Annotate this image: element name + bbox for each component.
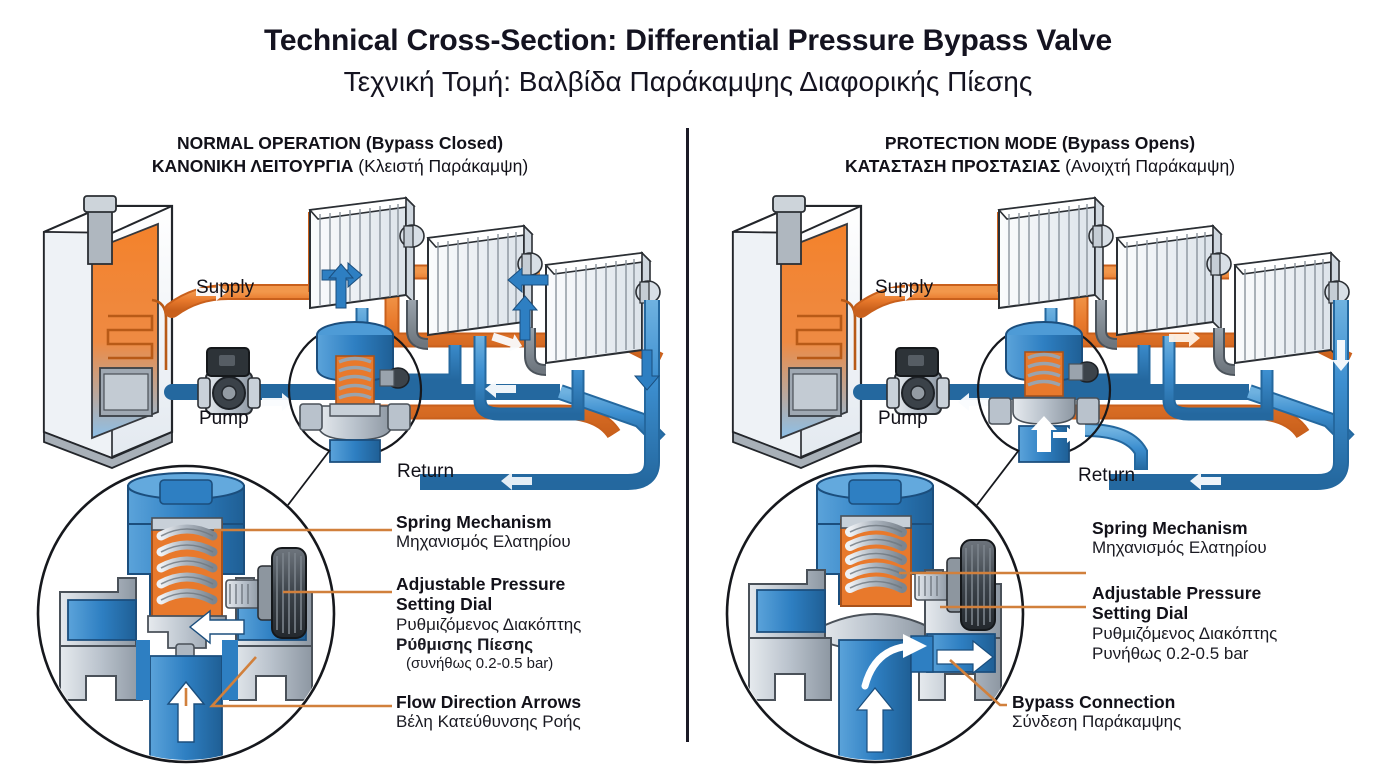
boiler-unit-left — [44, 196, 172, 468]
flow-arrow-horizontal — [190, 611, 244, 643]
leader-lines-right — [899, 573, 1086, 705]
circulation-pump-left — [198, 348, 260, 414]
panel-heading-normal-el: ΚΑΝΟΝΙΚΗ ΛΕΙΤΟΥΡΓΙΑ (Κλειστή Παράκαμψη) — [40, 155, 640, 178]
magnified-valve-cutaway-right — [727, 466, 1023, 762]
callout-subtitle: Ρυθμιζόμενος Διακόπτης — [396, 615, 656, 635]
callout-subtitle: Μηχανισμός Ελατηρίου — [1092, 538, 1352, 558]
radiator-1 — [999, 198, 1113, 308]
callout-spring-mechanism-right: Spring Mechanism Μηχανισμός Ελατηρίου — [1092, 518, 1352, 559]
caption-supply-left: Supply — [196, 277, 254, 299]
callout-title: Spring Mechanism — [396, 512, 656, 532]
caption-return-right: Return — [1078, 465, 1135, 487]
panel-heading-protection: PROTECTION MODE (Bypass Opens) ΚΑΤΑΣΤΑΣΗ… — [740, 132, 1340, 178]
adjustment-knob — [272, 548, 306, 638]
callout-subtitle: Βέλη Κατεύθυνσης Ροής — [396, 712, 656, 732]
callout-pressure-dial-right: Adjustable Pressure Setting Dial Ρυθμιζό… — [1092, 583, 1352, 664]
callout-title: Bypass Connection — [1012, 692, 1272, 712]
left-system-diagram — [38, 196, 660, 762]
radiator-3 — [1235, 253, 1349, 363]
radiator-group-left — [310, 198, 660, 363]
callout-bypass-connection-right: Bypass Connection Σύνδεση Παράκαμψης — [1012, 692, 1272, 733]
adjustment-knob — [961, 540, 995, 630]
caption-return-left: Return — [397, 461, 454, 483]
flow-arrow-vertical — [168, 682, 204, 742]
bypass-flow-right — [1085, 430, 1141, 470]
valve-inline-left — [289, 322, 421, 462]
callout-pressure-dial-left: Adjustable Pressure Setting Dial Ρυθμιζό… — [396, 574, 656, 673]
leader-lines-left — [186, 530, 392, 706]
panel-heading-normal-en: NORMAL OPERATION (Bypass Closed) — [40, 132, 640, 155]
callout-subtitle-2: Ρυνήθως 0.2-0.5 bar — [1092, 644, 1352, 664]
callout-title-line1: Adjustable Pressure — [1092, 583, 1352, 603]
radiator-group-right — [999, 198, 1349, 363]
callout-title: Spring Mechanism — [1092, 518, 1352, 538]
boiler-unit-right — [733, 196, 861, 468]
radiator-1 — [310, 198, 424, 308]
panel-heading-normal: NORMAL OPERATION (Bypass Closed) ΚΑΝΟΝΙΚ… — [40, 132, 640, 178]
panel-heading-protection-el: ΚΑΤΑΣΤΑΣΗ ΠΡΟΣΤΑΣΙΑΣ (Ανοιχτή Παράκαμψη) — [740, 155, 1340, 178]
panel-heading-protection-en: PROTECTION MODE (Bypass Opens) — [740, 132, 1340, 155]
flow-arrows-left — [322, 263, 659, 390]
callout-title-line2: Setting Dial — [396, 594, 656, 614]
magnified-valve-cutaway-left — [38, 466, 334, 762]
callout-title-line1: Adjustable Pressure — [396, 574, 656, 594]
circulation-pump-right — [887, 348, 949, 414]
diagram-canvas: Technical Cross-Section: Differential Pr… — [0, 0, 1376, 768]
valve-disc-open — [819, 614, 931, 651]
radiator-2 — [1117, 226, 1231, 335]
callout-subtitle: Σύνδεση Παράκαμψης — [1012, 712, 1272, 732]
radiator-2 — [428, 226, 542, 335]
page-title-el: Τεχνική Τομή: Βαλβίδα Παράκαμψης Διαφορι… — [0, 66, 1376, 98]
leader-arrows-left-a — [212, 657, 392, 706]
bypass-curve-arrow — [865, 646, 911, 686]
callout-title: Flow Direction Arrows — [396, 692, 656, 712]
right-system-diagram — [727, 196, 1350, 762]
leader-bypass-right — [950, 660, 1007, 705]
callout-note: (συνήθως 0.2-0.5 bar) — [396, 655, 656, 673]
callout-spring-mechanism-left: Spring Mechanism Μηχανισμός Ελατηρίου — [396, 512, 656, 553]
callout-title-line2: Setting Dial — [1092, 603, 1352, 623]
caption-pump-left: Pump — [199, 408, 249, 430]
page-title-en: Technical Cross-Section: Differential Pr… — [0, 24, 1376, 58]
panel-divider — [686, 128, 689, 742]
callout-subtitle: Μηχανισμός Ελατηρίου — [396, 532, 656, 552]
radiator-3 — [546, 253, 660, 363]
callout-flow-arrows-left: Flow Direction Arrows Βέλη Κατεύθυνσης Ρ… — [396, 692, 656, 733]
valve-inline-right — [978, 322, 1110, 462]
callout-subtitle: Ρυθμιζόμενος Διακόπτης — [1092, 624, 1352, 644]
caption-pump-right: Pump — [878, 408, 928, 430]
caption-supply-right: Supply — [875, 277, 933, 299]
callout-subtitle-bold: Ρύθμισης Πίεσης — [396, 635, 656, 655]
